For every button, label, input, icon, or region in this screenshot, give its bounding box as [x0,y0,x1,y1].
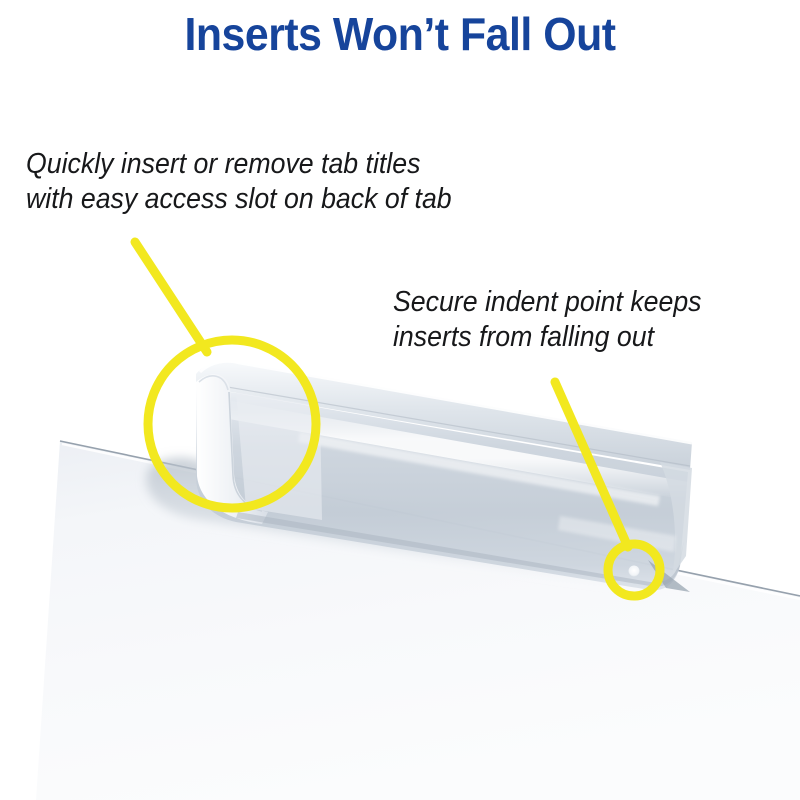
callout-text-access-slot: Quickly insert or remove tab titles with… [26,147,452,217]
illustration-svg [0,0,800,800]
leader-line-access-slot [135,242,207,352]
callout-text-indent-point: Secure indent point keeps inserts from f… [393,285,702,355]
product-illustration [0,0,800,800]
product-feature-infographic: Inserts Won’t Fall Out Quickly insert or… [0,0,800,800]
callout-indent-point-line-1: Secure indent point keeps [393,285,702,320]
indent-point-dimple [629,566,640,577]
callout-indent-point-line-2: inserts from falling out [393,320,702,355]
callout-access-slot-line-2: with easy access slot on back of tab [26,182,452,217]
page-title: Inserts Won’t Fall Out [28,8,772,60]
callout-access-slot-line-1: Quickly insert or remove tab titles [26,147,452,182]
